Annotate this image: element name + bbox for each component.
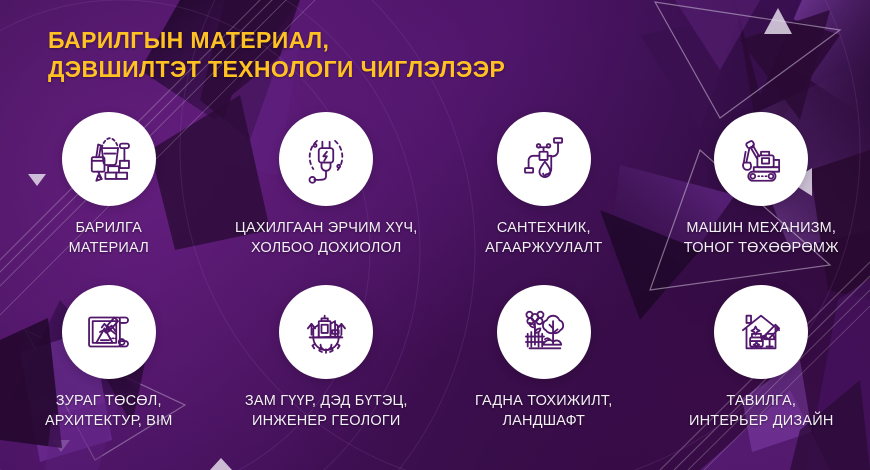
bucket-sand-bricks-icon xyxy=(80,130,138,188)
category-item-mashin-mehanizm[interactable]: МАШИН МЕХАНИЗМ, ТОНОГ ТӨХӨӨРӨМЖ xyxy=(653,112,870,258)
category-label: САНТЕХНИК, АГААРЖУУЛАЛТ xyxy=(485,218,602,258)
icon-circle xyxy=(497,112,591,206)
category-label: ЗАМ ГҮҮР, ДЭД БҮТЭЦ, ИНЖЕНЕР ГЕОЛОГИ xyxy=(245,391,408,431)
slide-title: БАРИЛГЫН МАТЕРИАЛ, ДЭВШИЛТЭТ ТЕХНОЛОГИ Ч… xyxy=(48,26,505,84)
category-item-zam-guur-ded-butets[interactable]: ЗАМ ГҮҮР, ДЭД БҮТЭЦ, ИНЖЕНЕР ГЕОЛОГИ xyxy=(218,285,436,431)
house-interior-brush-icon xyxy=(732,303,790,361)
category-row-2: ЗУРАГ ТӨСӨЛ, АРХИТЕКТУР, BIM xyxy=(0,285,870,431)
electric-plug-icon xyxy=(297,130,355,188)
blueprint-pencil-ruler-icon xyxy=(80,303,138,361)
icon-circle xyxy=(714,285,808,379)
infrastructure-gear-icon xyxy=(297,303,355,361)
icon-circle xyxy=(62,285,156,379)
icon-circle xyxy=(62,112,156,206)
category-label: БАРИЛГА МАТЕРИАЛ xyxy=(69,218,149,258)
icon-circle xyxy=(279,112,373,206)
category-label: МАШИН МЕХАНИЗМ, ТОНОГ ТӨХӨӨРӨМЖ xyxy=(684,218,839,258)
category-item-santehnik-agaarjuulalt[interactable]: САНТЕХНИК, АГААРЖУУЛАЛТ xyxy=(435,112,653,258)
category-label: ТАВИЛГА, ИНТЕРЬЕР ДИЗАЙН xyxy=(689,391,834,431)
icon-circle xyxy=(497,285,591,379)
category-item-zurag-tusul-arhitektur-bim[interactable]: ЗУРАГ ТӨСӨЛ, АРХИТЕКТУР, BIM xyxy=(0,285,218,431)
category-label: ЗУРАГ ТӨСӨЛ, АРХИТЕКТУР, BIM xyxy=(45,391,173,431)
excavator-icon xyxy=(732,130,790,188)
category-item-barilga-material[interactable]: БАРИЛГА МАТЕРИАЛ xyxy=(0,112,218,258)
category-item-tavilga-interer-dizajn[interactable]: ТАВИЛГА, ИНТЕРЬЕР ДИЗАЙН xyxy=(653,285,870,431)
bg-center-triangles xyxy=(640,0,830,130)
pipe-valve-waterdrop-icon xyxy=(515,130,573,188)
category-item-gadna-tohijilt-landshaft[interactable]: ГАДНА ТОХИЖИЛТ, ЛАНДШАФТ xyxy=(435,285,653,431)
category-row-1: БАРИЛГА МАТЕРИАЛ xyxy=(0,112,870,258)
slide-root: БАРИЛГЫН МАТЕРИАЛ, ДЭВШИЛТЭТ ТЕХНОЛОГИ Ч… xyxy=(0,0,870,470)
category-item-tsahilgaan-ercim-huch[interactable]: ЦАХИЛГААН ЭРЧИМ ХҮЧ, ХОЛБОО ДОХИОЛОЛ xyxy=(218,112,436,258)
landscape-tree-flower-icon xyxy=(515,303,573,361)
category-label: ЦАХИЛГААН ЭРЧИМ ХҮЧ, ХОЛБОО ДОХИОЛОЛ xyxy=(235,218,417,258)
category-label: ГАДНА ТОХИЖИЛТ, ЛАНДШАФТ xyxy=(475,391,613,431)
icon-circle xyxy=(714,112,808,206)
icon-circle xyxy=(279,285,373,379)
